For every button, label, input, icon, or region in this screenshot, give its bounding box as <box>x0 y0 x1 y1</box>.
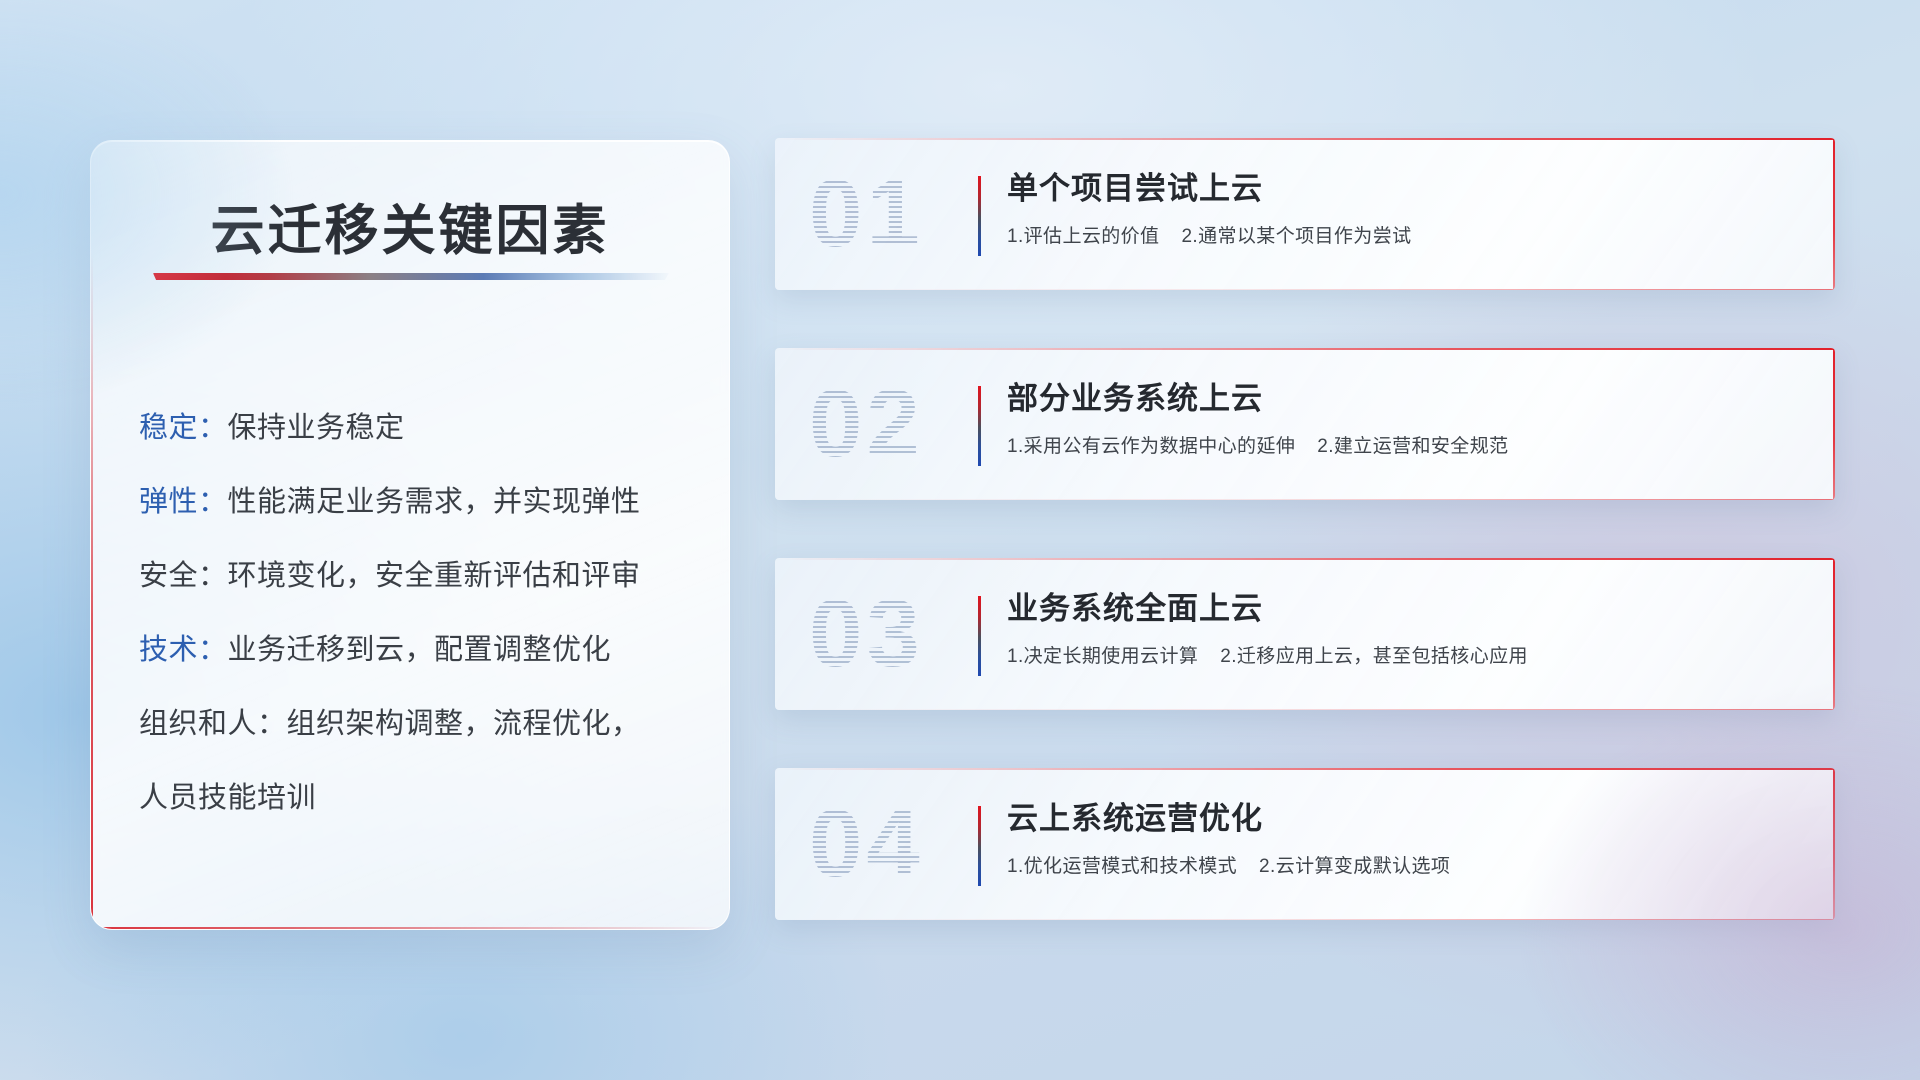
card-description: 1.采用公有云作为数据中心的延伸2.建立运营和安全规范 <box>1007 431 1795 458</box>
panel-bottom-accent <box>91 927 729 929</box>
card-description: 1.优化运营模式和技术模式2.云计算变成默认选项 <box>1007 851 1795 878</box>
card-point-2: 2.通常以某个项目作为尝试 <box>1181 226 1411 247</box>
factor-key: 安全： <box>139 560 228 592</box>
card-title: 业务系统全面上云 <box>1007 590 1795 627</box>
factor-item: 技术：业务迁移到云，配置调整优化 <box>139 613 693 687</box>
stage-card[interactable]: 01单个项目尝试上云1.评估上云的价值2.通常以某个项目作为尝试 <box>775 138 1835 290</box>
card-right-accent <box>1833 558 1835 710</box>
card-description: 1.评估上云的价值2.通常以某个项目作为尝试 <box>1007 221 1795 248</box>
card-bottom-accent <box>775 289 1835 290</box>
factor-value: 环境变化，安全重新评估和评审 <box>228 560 641 592</box>
card-description: 1.决定长期使用云计算2.迁移应用上云，甚至包括核心应用 <box>1007 641 1795 668</box>
factor-value: 性能满足业务需求，并实现弹性 <box>228 486 641 518</box>
factor-item: 弹性：性能满足业务需求，并实现弹性 <box>139 465 693 539</box>
stage-card[interactable]: 04云上系统运营优化1.优化运营模式和技术模式2.云计算变成默认选项 <box>775 768 1835 920</box>
factor-list: 稳定：保持业务稳定弹性：性能满足业务需求，并实现弹性安全：环境变化，安全重新评估… <box>139 391 693 835</box>
factor-value: 人员技能培训 <box>139 782 316 814</box>
card-point-2: 2.迁移应用上云，甚至包括核心应用 <box>1220 646 1528 667</box>
card-right-accent <box>1833 348 1835 500</box>
card-body: 云上系统运营优化1.优化运营模式和技术模式2.云计算变成默认选项 <box>1007 800 1795 878</box>
card-divider-bar <box>978 806 981 886</box>
card-bottom-accent <box>775 499 1835 500</box>
card-right-accent <box>1833 138 1835 290</box>
factor-key: 技术： <box>139 634 228 666</box>
factor-value: 组织架构调整，流程优化， <box>287 708 641 740</box>
card-top-accent <box>775 348 1835 350</box>
stage-number: 01 <box>809 166 924 262</box>
factor-item: 人员技能培训 <box>139 761 693 835</box>
card-title: 部分业务系统上云 <box>1007 380 1795 417</box>
card-point-2: 2.建立运营和安全规范 <box>1317 436 1508 457</box>
factor-key: 弹性： <box>139 486 228 518</box>
factor-key: 组织和人： <box>139 708 287 740</box>
stage-card[interactable]: 03业务系统全面上云1.决定长期使用云计算2.迁移应用上云，甚至包括核心应用 <box>775 558 1835 710</box>
card-body: 单个项目尝试上云1.评估上云的价值2.通常以某个项目作为尝试 <box>1007 170 1795 248</box>
factor-item: 安全：环境变化，安全重新评估和评审 <box>139 539 693 613</box>
stage-number: 03 <box>809 586 924 682</box>
factor-item: 组织和人：组织架构调整，流程优化， <box>139 687 693 761</box>
panel-left-accent <box>91 251 93 929</box>
factor-value: 业务迁移到云，配置调整优化 <box>228 634 612 666</box>
card-point-1: 1.决定长期使用云计算 <box>1007 646 1198 667</box>
card-point-2: 2.云计算变成默认选项 <box>1259 856 1450 877</box>
stage-card[interactable]: 02部分业务系统上云1.采用公有云作为数据中心的延伸2.建立运营和安全规范 <box>775 348 1835 500</box>
card-body: 业务系统全面上云1.决定长期使用云计算2.迁移应用上云，甚至包括核心应用 <box>1007 590 1795 668</box>
maturity-stage-card-list: 01单个项目尝试上云1.评估上云的价值2.通常以某个项目作为尝试02部分业务系统… <box>775 138 1835 920</box>
factor-item: 稳定：保持业务稳定 <box>139 391 693 465</box>
title-underline-gradient <box>153 273 669 280</box>
factor-key: 稳定： <box>139 412 228 444</box>
card-title: 云上系统运营优化 <box>1007 800 1795 837</box>
card-divider-bar <box>978 176 981 256</box>
card-divider-bar <box>978 386 981 466</box>
slide-canvas: 云迁移关键因素 稳定：保持业务稳定弹性：性能满足业务需求，并实现弹性安全：环境变… <box>0 0 1920 1080</box>
key-factors-panel: 云迁移关键因素 稳定：保持业务稳定弹性：性能满足业务需求，并实现弹性安全：环境变… <box>90 140 730 930</box>
stage-number: 02 <box>809 376 924 472</box>
card-top-accent <box>775 138 1835 140</box>
card-right-accent <box>1833 768 1835 920</box>
card-body: 部分业务系统上云1.采用公有云作为数据中心的延伸2.建立运营和安全规范 <box>1007 380 1795 458</box>
card-top-accent <box>775 768 1835 770</box>
card-title: 单个项目尝试上云 <box>1007 170 1795 207</box>
card-point-1: 1.评估上云的价值 <box>1007 226 1159 247</box>
card-bottom-accent <box>775 709 1835 710</box>
page-title: 云迁移关键因素 <box>91 186 729 265</box>
card-divider-bar <box>978 596 981 676</box>
card-bottom-accent <box>775 919 1835 920</box>
card-point-1: 1.采用公有云作为数据中心的延伸 <box>1007 436 1295 457</box>
card-point-1: 1.优化运营模式和技术模式 <box>1007 856 1237 877</box>
card-top-accent <box>775 558 1835 560</box>
stage-number: 04 <box>809 796 924 892</box>
factor-value: 保持业务稳定 <box>228 412 405 444</box>
